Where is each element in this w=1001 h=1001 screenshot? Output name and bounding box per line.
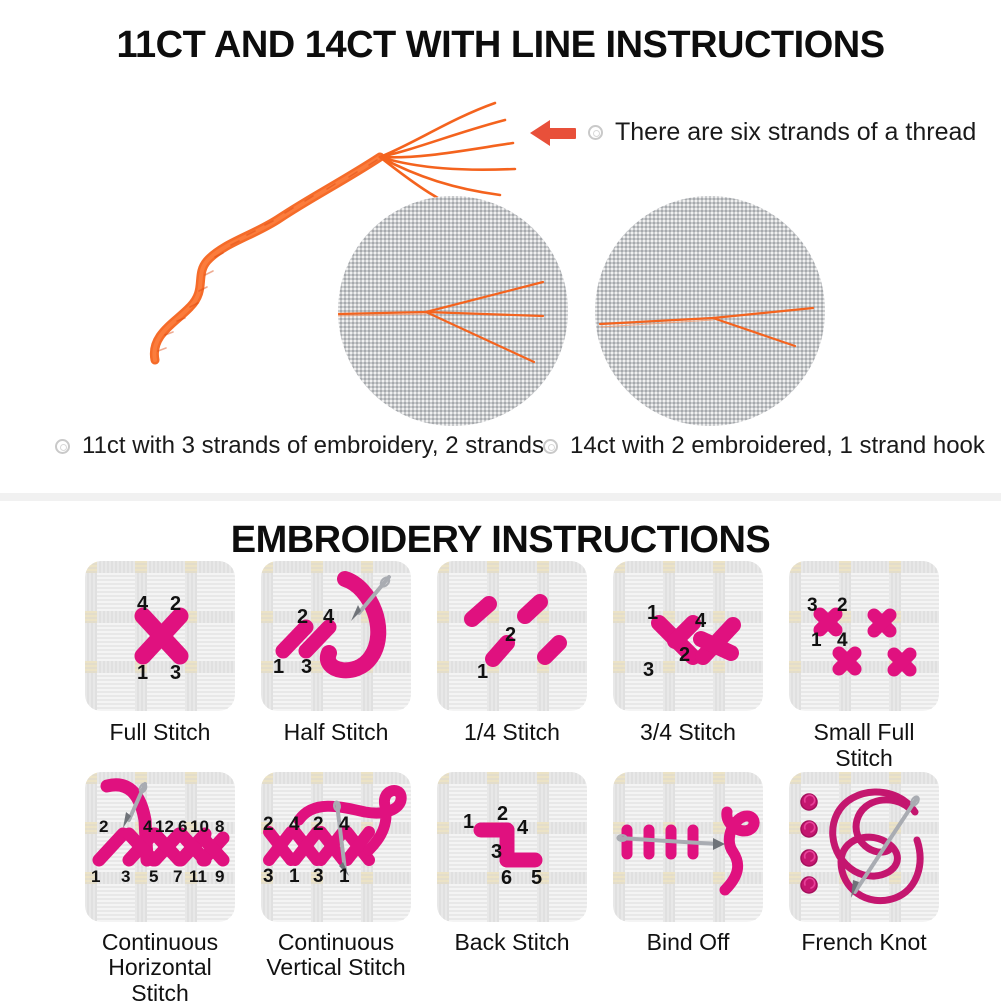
stitch-label: 1/4 Stitch — [464, 720, 560, 746]
stitch-cell-back-stitch: 1 2 4 3 6 5 Back Stitch — [434, 772, 590, 1001]
stitch-cell-three-quarter-stitch: 1 4 2 3 3/4 Stitch — [610, 561, 766, 772]
stitch-number: 3 — [643, 659, 654, 681]
aida-swatch-14ct — [595, 196, 825, 426]
stitch-number: 3 — [807, 595, 818, 616]
stitch-diagram-quarter-stitch: 2 1 — [437, 561, 587, 711]
stitch-cell-bind-off: Bind Off — [610, 772, 766, 1001]
stitch-number: 1 — [477, 661, 488, 683]
stitch-number: 2 — [497, 803, 508, 825]
stitch-diagram-full-stitch: 4 2 1 3 — [85, 561, 235, 711]
ring-bullet-icon — [543, 439, 558, 454]
stitch-number: 5 — [149, 867, 158, 886]
stitch-number: 3 — [313, 866, 324, 887]
stitch-number: 4 — [339, 814, 350, 835]
stitch-number: 3 — [491, 841, 502, 863]
stitch-number: 2 — [679, 644, 690, 666]
stitch-number: 4 — [323, 606, 335, 628]
stitch-number: 2 — [297, 606, 308, 628]
stitch-number: 2 — [170, 593, 181, 615]
six-strands-note-text: There are six strands of a thread — [615, 118, 976, 147]
caption-14ct-text: 14ct with 2 embroidered, 1 strand hook — [570, 432, 985, 460]
stitch-label: Bind Off — [647, 930, 730, 956]
stitch-number: 4 — [517, 817, 529, 839]
stitch-number: 4 — [837, 630, 848, 651]
stitch-diagram-french-knot — [789, 772, 939, 922]
stitch-number: 9 — [215, 867, 224, 886]
stitch-number: 3 — [170, 662, 181, 684]
stitch-number: 1 — [137, 662, 148, 684]
stitch-label: French Knot — [801, 930, 926, 956]
stitch-cell-quarter-stitch: 2 1 1/4 Stitch — [434, 561, 590, 772]
stitch-grid: 4 2 1 3 Full Stitch — [82, 561, 942, 1001]
stitch-number: 6 — [501, 867, 512, 889]
stitch-diagram-half-stitch: 2 4 1 3 — [261, 561, 411, 711]
caption-14ct: 14ct with 2 embroidered, 1 strand hook — [543, 432, 985, 460]
stitch-number: 2 — [263, 814, 274, 835]
stitch-cell-continuous-horizontal-stitch: 2 4 12 6 10 8 1 3 5 7 11 9 — [82, 772, 238, 1001]
stitch-number: 3 — [301, 656, 312, 678]
stitch-number: 11 — [189, 867, 207, 886]
stitch-number: 2 — [837, 595, 848, 616]
stitch-number: 4 — [289, 814, 300, 835]
page-title-ct: 11CT AND 14CT WITH LINE INSTRUCTIONS — [0, 0, 1001, 67]
stitch-number: 1 — [339, 866, 350, 887]
ring-bullet-icon — [588, 125, 603, 140]
stitch-cell-small-full-stitch: 3 2 1 4 Small Full Stitch — [786, 561, 942, 772]
stitch-number: 4 — [695, 610, 707, 632]
aida-swatch-11ct — [338, 196, 568, 426]
stitch-label: Continuous Vertical Stitch — [266, 930, 405, 982]
embroidery-instructions-section: EMBROIDERY INSTRUCTIONS — [0, 501, 1001, 1001]
page-title-embroidery: EMBROIDERY INSTRUCTIONS — [0, 501, 1001, 562]
stitch-cell-continuous-vertical-stitch: 2 4 2 4 3 1 3 1 Continuous Vertical Stit… — [258, 772, 414, 1001]
ring-bullet-icon — [55, 439, 70, 454]
stitch-number: 1 — [811, 630, 822, 651]
stitch-number: 1 — [289, 866, 300, 887]
section-divider — [0, 493, 1001, 501]
stitch-label: Back Stitch — [454, 930, 569, 956]
stitch-number: 7 — [173, 867, 182, 886]
stitch-diagram-continuous-horizontal-stitch: 2 4 12 6 10 8 1 3 5 7 11 9 — [85, 772, 235, 922]
stitch-label: Continuous Horizontal Stitch — [82, 930, 238, 1001]
caption-11ct-text: 11ct with 3 strands of embroidery, 2 str… — [82, 432, 544, 460]
stitch-number: 1 — [91, 867, 100, 886]
stitch-diagram-small-full-stitch: 3 2 1 4 — [789, 561, 939, 711]
caption-11ct: 11ct with 3 strands of embroidery, 2 str… — [55, 432, 544, 460]
six-strands-note: There are six strands of a thread — [530, 118, 976, 147]
stitch-number: 1 — [647, 602, 658, 624]
stitch-number: 12 — [155, 817, 174, 836]
stitch-diagram-continuous-vertical-stitch: 2 4 2 4 3 1 3 1 — [261, 772, 411, 922]
stitch-number: 2 — [505, 624, 516, 646]
stitch-number: 6 — [178, 817, 187, 836]
stitch-cell-french-knot: French Knot — [786, 772, 942, 1001]
stitch-number: 4 — [137, 593, 149, 615]
stitch-cell-full-stitch: 4 2 1 3 Full Stitch — [82, 561, 238, 772]
stitch-label: Small Full Stitch — [786, 720, 942, 772]
stitch-number: 1 — [463, 811, 474, 833]
stitch-number: 3 — [263, 866, 274, 887]
stitch-diagram-bind-off — [613, 772, 763, 922]
stitch-number: 2 — [99, 817, 108, 836]
stitch-number: 4 — [143, 817, 153, 836]
stitch-label: Half Stitch — [284, 720, 389, 746]
stitch-number: 10 — [190, 817, 209, 836]
stitch-cell-half-stitch: 2 4 1 3 Half Stitch — [258, 561, 414, 772]
stitch-number: 3 — [121, 867, 130, 886]
stitch-number: 5 — [531, 867, 542, 889]
stitch-label: Full Stitch — [110, 720, 211, 746]
stitch-number: 8 — [215, 817, 224, 836]
stitch-number: 1 — [273, 656, 284, 678]
stitch-label: 3/4 Stitch — [640, 720, 736, 746]
stitch-diagram-three-quarter-stitch: 1 4 2 3 — [613, 561, 763, 711]
stitch-number: 2 — [313, 814, 324, 835]
arrow-left-icon — [530, 120, 576, 146]
stitch-diagram-back-stitch: 1 2 4 3 6 5 — [437, 772, 587, 922]
thread-instructions-section: 11CT AND 14CT WITH LINE INSTRUCTIONS — [0, 0, 1001, 493]
